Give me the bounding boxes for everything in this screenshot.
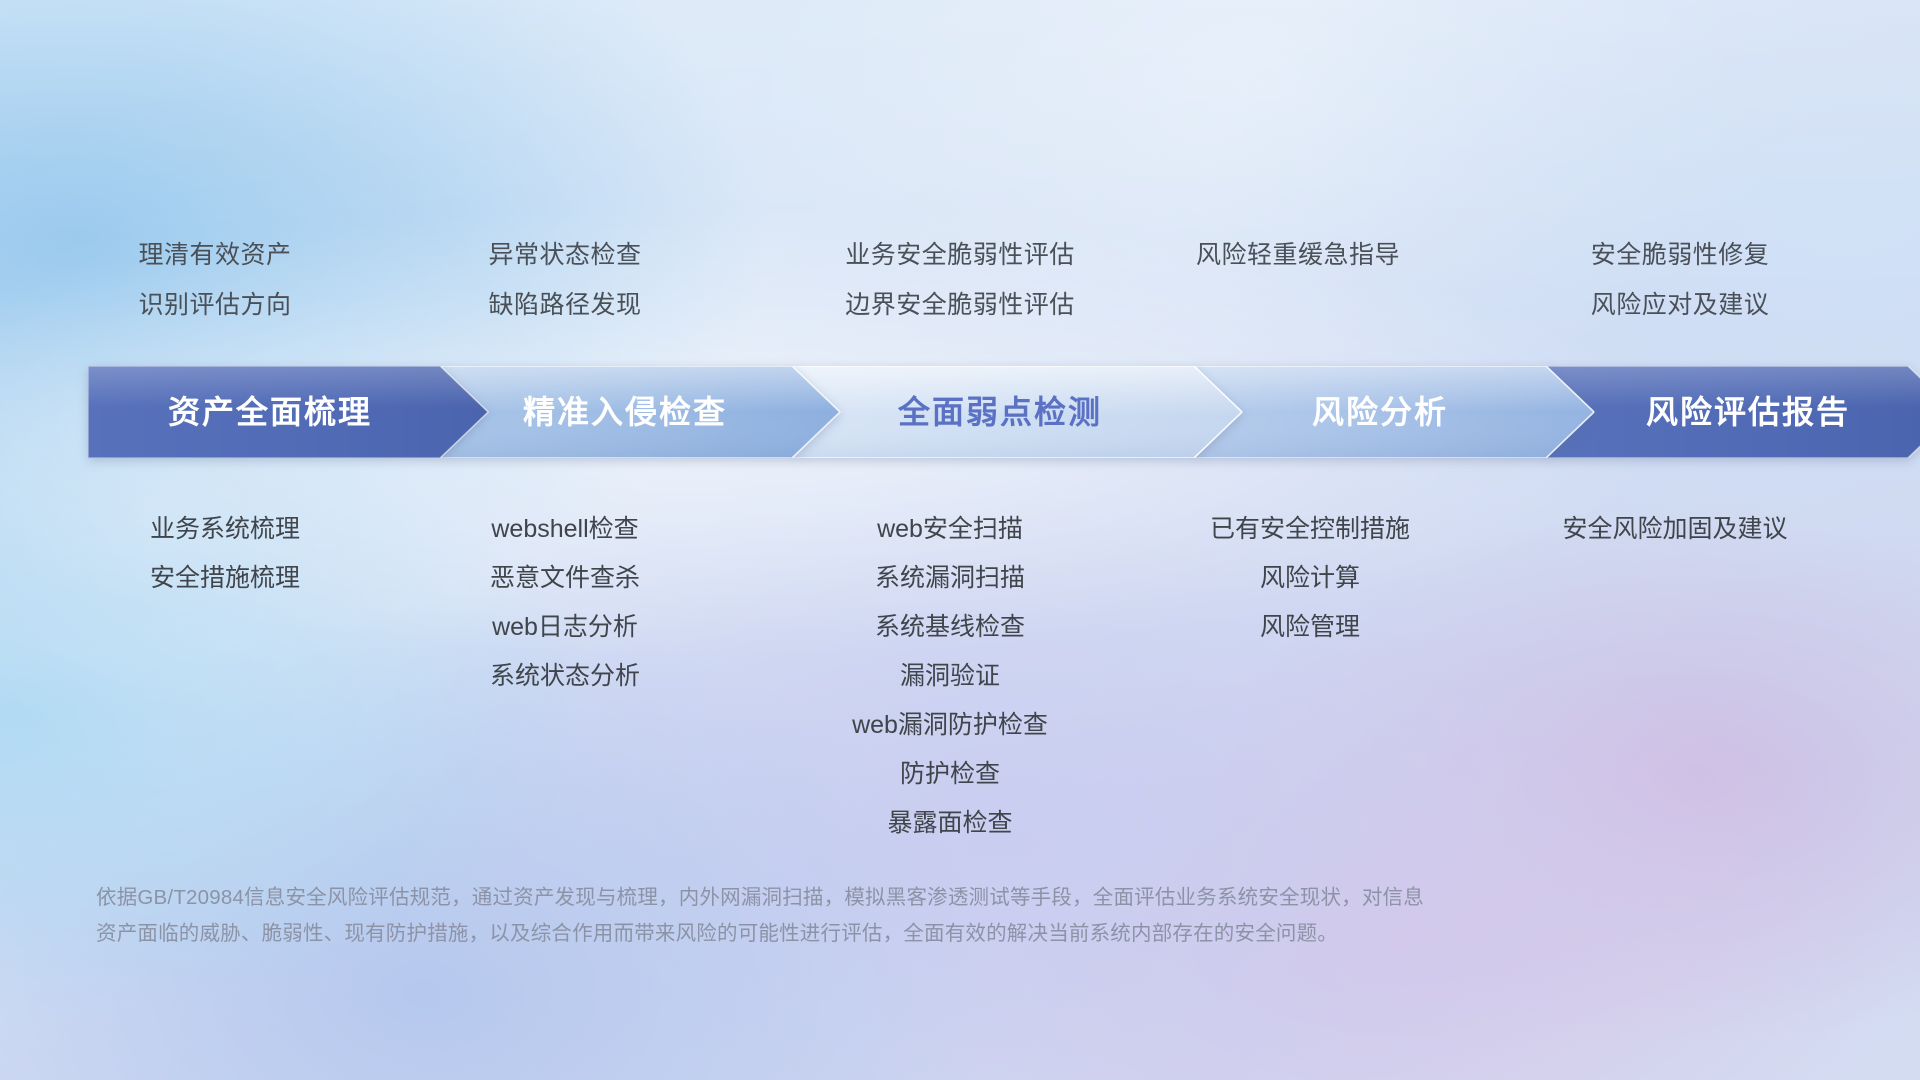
stage-chevron-weakness-detection[interactable]: 全面弱点检测 [792,366,1242,458]
bottom-items-col-1: 业务系统梳理 安全措施梳理 [60,517,390,591]
list-item: 漏洞验证 [770,664,1130,689]
list-item: 风险计算 [1140,566,1480,591]
stage-chevron-asset-inventory[interactable]: 资产全面梳理 [88,366,488,458]
footer-line-1: 依据GB/T20984信息安全风险评估规范，通过资产发现与梳理，内外网漏洞扫描，… [96,880,1736,916]
footer-line-2: 资产面临的威胁、脆弱性、现有防护措施，以及综合作用而带来风险的可能性进行评估，全… [96,916,1736,952]
list-item: web日志分析 [400,615,730,640]
stage-label: 风险分析 [1312,396,1448,428]
list-item: 防护检查 [770,762,1130,787]
bottom-items-col-5: 安全风险加固及建议 [1490,517,1860,542]
stage-label: 风险评估报告 [1646,396,1850,428]
stage-chevron-risk-analysis[interactable]: 风险分析 [1194,366,1594,458]
list-item: 安全措施梳理 [60,566,390,591]
top-note: 异常状态检查 [410,243,720,268]
bottom-items-col-4: 已有安全控制措施 风险计算 风险管理 [1140,517,1480,640]
stage-chevron-intrusion-check[interactable]: 精准入侵检查 [440,366,840,458]
list-item: 系统基线检查 [770,615,1130,640]
list-item: webshell检查 [400,517,730,542]
stage-label: 精准入侵检查 [523,396,727,428]
top-notes-col-4: 风险轻重缓急指导 [1128,243,1468,268]
list-item: web漏洞防护检查 [770,713,1130,738]
footer-description: 依据GB/T20984信息安全风险评估规范，通过资产发现与梳理，内外网漏洞扫描，… [96,880,1736,952]
list-item: 系统状态分析 [400,664,730,689]
stage-chevron-band: 资产全面梳理 精准入侵检查 [88,366,1858,458]
top-notes-col-1: 理清有效资产 识别评估方向 [60,243,370,318]
list-item: 安全风险加固及建议 [1490,517,1860,542]
list-item: web安全扫描 [770,517,1130,542]
top-note: 安全脆弱性修复 [1510,243,1850,268]
top-notes-col-2: 异常状态检查 缺陷路径发现 [410,243,720,318]
process-diagram: 理清有效资产 识别评估方向 异常状态检查 缺陷路径发现 业务安全脆弱性评估 边界… [0,0,1920,1080]
stage-chevron-risk-report[interactable]: 风险评估报告 [1546,366,1920,458]
list-item: 风险管理 [1140,615,1480,640]
top-note: 业务安全脆弱性评估 [760,243,1160,268]
list-item: 业务系统梳理 [60,517,390,542]
stage-label: 资产全面梳理 [168,396,372,428]
top-notes-col-5: 安全脆弱性修复 风险应对及建议 [1510,243,1850,318]
list-item: 暴露面检查 [770,811,1130,836]
stage-label: 全面弱点检测 [898,396,1102,428]
top-note: 缺陷路径发现 [410,293,720,318]
top-note: 风险应对及建议 [1510,293,1850,318]
top-note: 风险轻重缓急指导 [1128,243,1468,268]
list-item: 系统漏洞扫描 [770,566,1130,591]
top-note: 理清有效资产 [60,243,370,268]
top-note: 边界安全脆弱性评估 [760,293,1160,318]
top-note: 识别评估方向 [60,293,370,318]
bottom-items-col-2: webshell检查 恶意文件查杀 web日志分析 系统状态分析 [400,517,730,689]
list-item: 恶意文件查杀 [400,566,730,591]
list-item: 已有安全控制措施 [1140,517,1480,542]
top-notes-col-3: 业务安全脆弱性评估 边界安全脆弱性评估 [760,243,1160,318]
bottom-items-col-3: web安全扫描 系统漏洞扫描 系统基线检查 漏洞验证 web漏洞防护检查 防护检… [770,517,1130,836]
